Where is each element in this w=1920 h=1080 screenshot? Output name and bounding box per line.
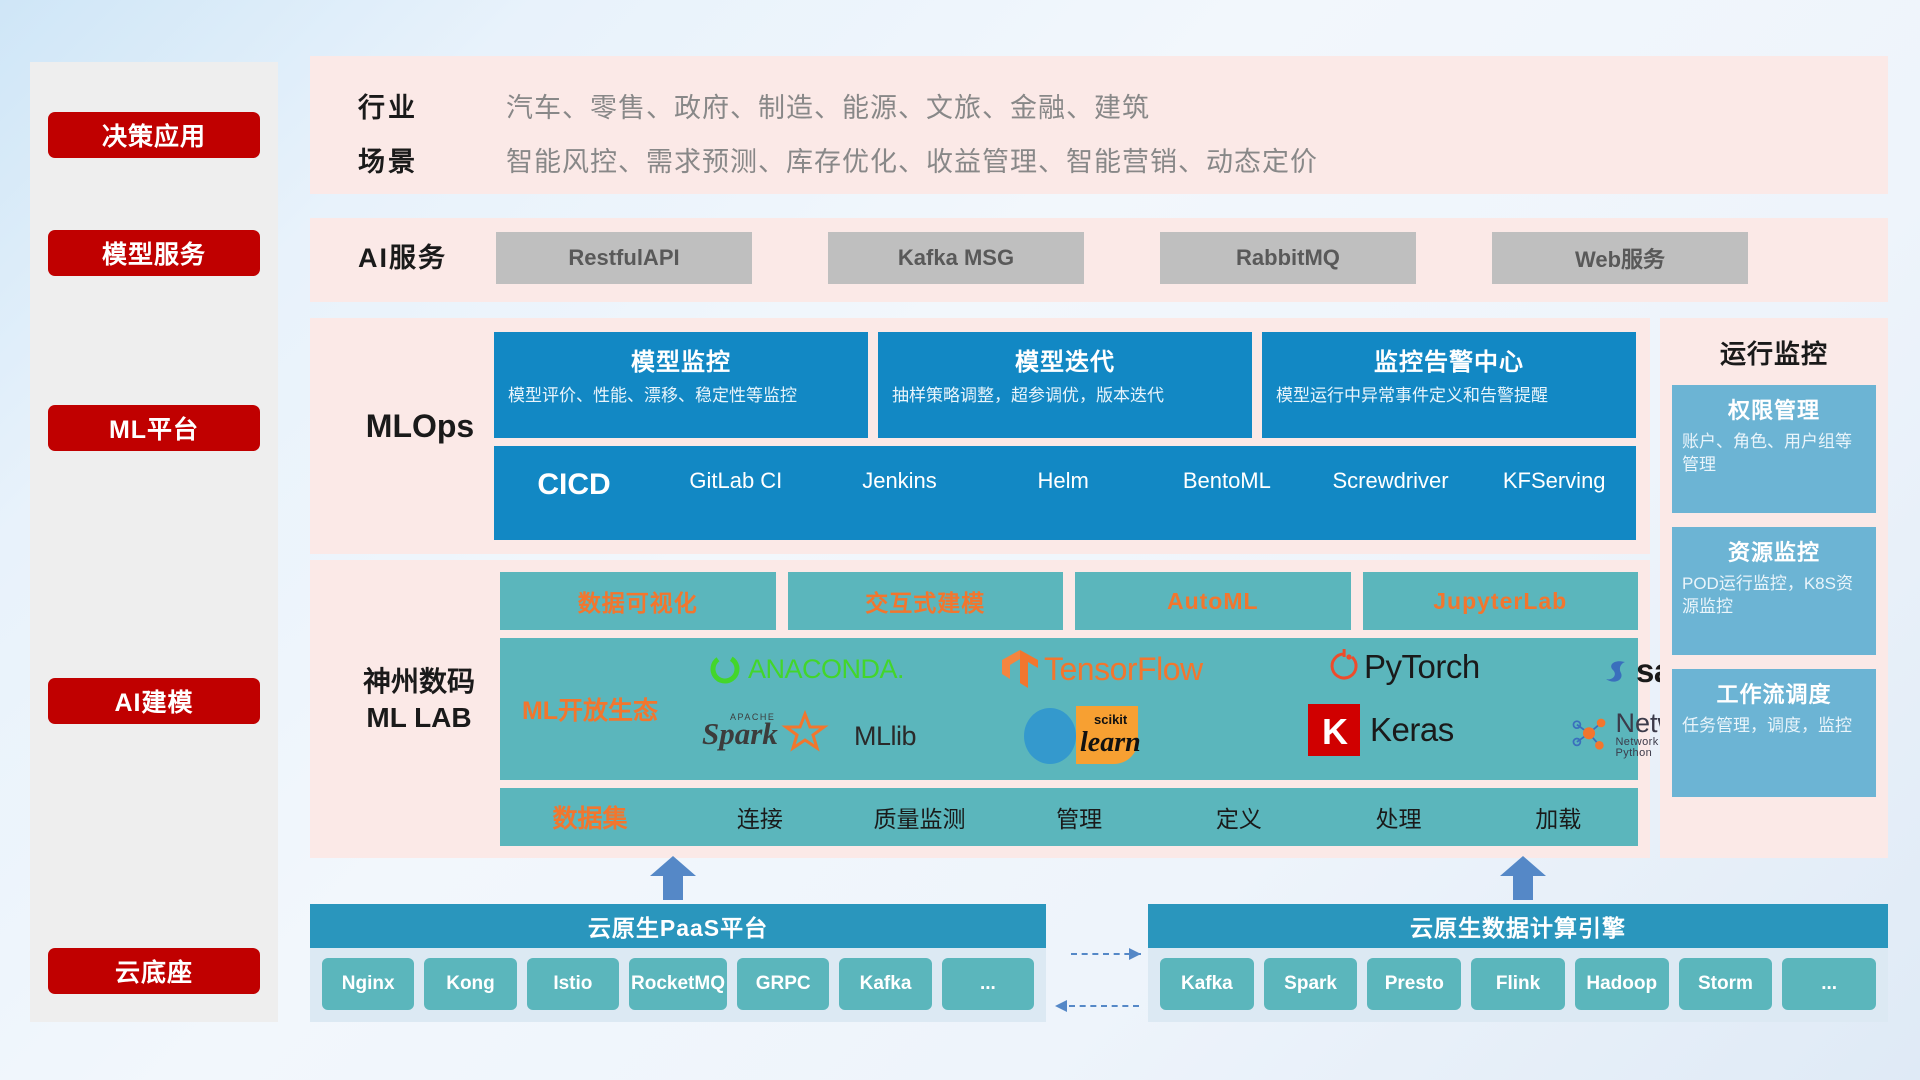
arrow-head [650,856,696,876]
pytorch-icon [1328,648,1360,686]
arrow-head-left-icon [1055,1000,1067,1012]
monitor-card-workflow[interactable]: 工作流调度 任务管理，调度，监控 [1672,669,1876,797]
svg-text:APACHE: APACHE [730,712,775,722]
dashed-line [1069,1005,1139,1007]
networkx-icon [1570,713,1611,757]
mllib-label: MLlib [854,721,916,752]
arrow-head [1500,856,1546,876]
mlops-card-desc: 模型评价、性能、漂移、稳定性等监控 [508,385,854,407]
dashed-arrow-right [1055,953,1141,955]
mlops-card-title: 模型监控 [508,342,854,377]
chip-kafka[interactable]: Kafka [839,958,931,1010]
cicd-item-bentoml[interactable]: BentoML [1145,468,1309,493]
decision-app-band: 行业 汽车、零售、政府、制造、能源、文旅、金融、建筑 场景 智能风控、需求预测、… [310,56,1888,194]
anaconda-icon [708,652,742,686]
dataset-row: 数据集 连接 质量监测 管理 定义 处理 加载 [500,788,1638,846]
sas-icon [1602,655,1634,687]
ai-service-item[interactable]: Kafka MSG [828,232,1084,284]
ecosystem-logo-grid: ANACONDA. TensorFlow [680,638,1638,780]
mlops-card-model-monitoring[interactable]: 模型监控 模型评价、性能、漂移、稳定性等监控 [494,332,868,438]
ai-service-list: RestfulAPI Kafka MSG RabbitMQ Web服务 [496,232,1868,284]
chip-storm[interactable]: Storm [1679,958,1773,1010]
dataset-item-load[interactable]: 加载 [1478,800,1638,834]
cicd-item-gitlab-ci[interactable]: GitLab CI [654,468,818,493]
monitor-card-title: 资源监控 [1682,535,1866,567]
chip-hadoop[interactable]: Hadoop [1575,958,1669,1010]
tensorflow-label: TensorFlow [1044,651,1203,688]
anaconda-logo: ANACONDA. [708,652,904,686]
tier-rail [30,62,278,1022]
chip-flink[interactable]: Flink [1471,958,1565,1010]
cicd-item-screwdriver[interactable]: Screwdriver [1309,468,1473,493]
keras-icon: K [1308,704,1360,756]
cloud-data-engine-panel: 云原生数据计算引擎 Kafka Spark Presto Flink Hadoo… [1148,904,1888,1022]
cloud-paas-chip-list: Nginx Kong Istio RocketMQ GRPC Kafka ... [310,948,1046,1020]
spark-icon: Spark APACHE [702,710,852,762]
chip-kafka[interactable]: Kafka [1160,958,1254,1010]
dataset-item-manage[interactable]: 管理 [999,800,1159,834]
tier-label-text: 云底座 [115,953,193,989]
scikit-learn-logo: scikit learn [1018,704,1168,764]
dataset-label: 数据集 [500,799,680,835]
cicd-row: CICD GitLab CI Jenkins Helm BentoML Scre… [494,446,1636,540]
cloud-paas-title: 云原生PaaS平台 [310,904,1046,948]
keras-label: Keras [1370,711,1454,749]
ml-lab-key-line1: 神州数码 [330,664,508,700]
ml-lab-key-line2: ML LAB [330,700,508,736]
tier-label-ml-platform[interactable]: ML平台 [48,405,260,451]
mlops-key: MLOps [340,408,500,445]
svg-text:scikit: scikit [1094,712,1128,727]
monitor-card-title: 工作流调度 [1682,677,1866,709]
dashed-arrow-left [1055,1005,1141,1007]
pytorch-logo: PyTorch [1328,648,1480,686]
svg-text:learn: learn [1080,727,1141,758]
tier-label-cloud-base[interactable]: 云底座 [48,948,260,994]
ai-modeling-band: 神州数码 ML LAB 数据可视化 交互式建模 AutoML JupyterLa… [310,560,1650,858]
chip-nginx[interactable]: Nginx [322,958,414,1010]
ai-service-item[interactable]: RabbitMQ [1160,232,1416,284]
cicd-label: CICD [494,468,654,502]
modeling-tool-list: 数据可视化 交互式建模 AutoML JupyterLab [500,572,1638,630]
ai-service-item[interactable]: RestfulAPI [496,232,752,284]
chip-kong[interactable]: Kong [424,958,516,1010]
cicd-item-jenkins[interactable]: Jenkins [818,468,982,493]
monitor-card-desc: POD运行监控，K8S资源监控 [1682,573,1866,619]
chip-grpc[interactable]: GRPC [737,958,829,1010]
chip-spark[interactable]: Spark [1264,958,1358,1010]
scenario-value: 智能风控、需求预测、库存优化、收益管理、智能营销、动态定价 [506,140,1318,179]
scikit-learn-icon: scikit learn [1018,704,1168,764]
tool-data-visualization[interactable]: 数据可视化 [500,572,776,630]
chip-presto[interactable]: Presto [1367,958,1461,1010]
ml-lab-key: 神州数码 ML LAB [330,664,508,736]
keras-logo: K Keras [1308,704,1454,756]
tensorflow-icon [1000,648,1040,690]
monitor-card-title: 权限管理 [1682,393,1866,425]
tool-automl[interactable]: AutoML [1075,572,1351,630]
industry-key: 行业 [358,86,418,125]
mlops-card-desc: 抽样策略调整，超参调优，版本迭代 [892,385,1238,407]
ai-service-band: AI服务 RestfulAPI Kafka MSG RabbitMQ Web服务 [310,218,1888,302]
tier-label-decision-app[interactable]: 决策应用 [48,112,260,158]
runtime-monitor-panel: 运行监控 权限管理 账户、角色、用户组等管理 资源监控 POD运行监控，K8S资… [1660,318,1888,858]
tier-label-model-service[interactable]: 模型服务 [48,230,260,276]
mlops-card-desc: 模型运行中异常事件定义和告警提醒 [1276,385,1622,407]
anaconda-label: ANACONDA. [748,654,904,685]
monitor-card-desc: 任务管理，调度，监控 [1682,715,1866,738]
monitor-card-resource[interactable]: 资源监控 POD运行监控，K8S资源监控 [1672,527,1876,655]
pytorch-label: PyTorch [1364,648,1480,686]
tier-label-text: AI建模 [114,683,193,719]
arrow-head-right-icon [1129,948,1141,960]
dataset-item-process[interactable]: 处理 [1319,800,1479,834]
ai-service-item[interactable]: Web服务 [1492,232,1748,284]
cicd-item-kfserving[interactable]: KFServing [1472,468,1636,493]
scenario-key: 场景 [358,140,418,179]
spark-mllib-logo: Spark APACHE MLlib [702,710,916,762]
cloud-data-engine-title: 云原生数据计算引擎 [1148,904,1888,948]
arrow-up-data-engine [1500,856,1546,900]
arrow-up-paas [650,856,696,900]
runtime-monitor-title: 运行监控 [1660,318,1888,371]
tool-jupyterlab[interactable]: JupyterLab [1363,572,1639,630]
arrow-shaft [1513,874,1533,900]
dataset-item-quality-monitoring[interactable]: 质量监测 [840,800,1000,834]
ml-open-ecosystem: ML开放生态 ANACONDA. TensorFlow [500,638,1638,780]
monitor-card-permission[interactable]: 权限管理 账户、角色、用户组等管理 [1672,385,1876,513]
tensorflow-logo: TensorFlow [1000,648,1203,690]
architecture-diagram: 决策应用 模型服务 ML平台 AI建模 云底座 行业 汽车、零售、政府、制造、能… [0,0,1920,1080]
tool-interactive-modeling[interactable]: 交互式建模 [788,572,1064,630]
dataset-item-define[interactable]: 定义 [1159,800,1319,834]
ai-service-key: AI服务 [358,236,447,275]
arrow-shaft [663,874,683,900]
monitor-card-desc: 账户、角色、用户组等管理 [1682,431,1866,477]
tier-label-text: ML平台 [109,410,199,446]
mlops-card-title: 监控告警中心 [1276,342,1622,377]
tier-label-text: 决策应用 [102,117,206,153]
mlops-card-title: 模型迭代 [892,342,1238,377]
cicd-item-helm[interactable]: Helm [981,468,1145,493]
tier-label-text: 模型服务 [102,235,206,271]
mlops-card-alert-center[interactable]: 监控告警中心 模型运行中异常事件定义和告警提醒 [1262,332,1636,438]
mlops-card-list: 模型监控 模型评价、性能、漂移、稳定性等监控 模型迭代 抽样策略调整，超参调优，… [494,332,1636,438]
cloud-paas-panel: 云原生PaaS平台 Nginx Kong Istio RocketMQ GRPC… [310,904,1046,1022]
mlops-card-model-iteration[interactable]: 模型迭代 抽样策略调整，超参调优，版本迭代 [878,332,1252,438]
tier-label-ai-modeling[interactable]: AI建模 [48,678,260,724]
svg-text:K: K [1322,711,1348,752]
dataset-item-connect[interactable]: 连接 [680,800,840,834]
ml-open-ecosystem-label: ML开放生态 [500,691,680,727]
mlops-band: MLOps 模型监控 模型评价、性能、漂移、稳定性等监控 模型迭代 抽样策略调整… [310,318,1650,554]
chip-rocketmq[interactable]: RocketMQ [629,958,727,1010]
cloud-data-engine-chip-list: Kafka Spark Presto Flink Hadoop Storm ..… [1148,948,1888,1020]
chip-more[interactable]: ... [1782,958,1876,1010]
industry-value: 汽车、零售、政府、制造、能源、文旅、金融、建筑 [506,86,1150,125]
chip-istio[interactable]: Istio [527,958,619,1010]
chip-more[interactable]: ... [942,958,1034,1010]
